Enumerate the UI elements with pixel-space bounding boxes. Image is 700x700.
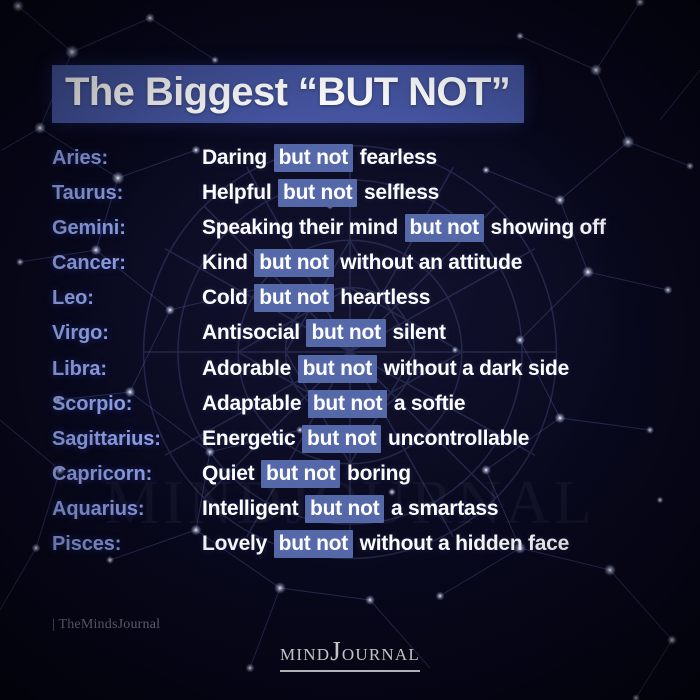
phrase-highlight: but not xyxy=(274,144,353,172)
zodiac-list: Aries:Daring but not fearlessTaurus:Help… xyxy=(52,146,692,567)
zodiac-row: Aries:Daring but not fearless xyxy=(52,146,692,181)
zodiac-sign-label: Scorpio: xyxy=(52,393,202,416)
phrase-after: a softie xyxy=(394,392,466,415)
phrase-before: Lovely xyxy=(202,532,267,555)
phrase-highlight: but not xyxy=(306,319,385,347)
zodiac-sign-label: Taurus: xyxy=(52,182,202,205)
zodiac-row: Capricorn:Quiet but not boring xyxy=(52,462,692,497)
phrase-after: without an attitude xyxy=(340,251,522,274)
phrase-highlight: but not xyxy=(298,355,377,383)
zodiac-phrase: Intelligent but not a smartass xyxy=(202,497,498,521)
zodiac-phrase: Helpful but not selfless xyxy=(202,181,439,205)
phrase-after: heartless xyxy=(340,286,430,309)
phrase-before: Intelligent xyxy=(202,497,298,520)
zodiac-sign-label: Aquarius: xyxy=(52,498,202,521)
phrase-highlight: but not xyxy=(308,390,387,418)
zodiac-phrase: Speaking their mind but not showing off xyxy=(202,216,606,240)
phrase-after: without a dark side xyxy=(384,357,569,380)
phrase-after: selfless xyxy=(364,181,439,204)
zodiac-phrase: Kind but not without an attitude xyxy=(202,251,522,275)
zodiac-row: Virgo:Antisocial but not silent xyxy=(52,321,692,356)
zodiac-row: Leo:Cold but not heartless xyxy=(52,286,692,321)
phrase-before: Speaking their mind xyxy=(202,216,398,239)
zodiac-phrase: Energetic but not uncontrollable xyxy=(202,427,529,451)
brand-logo: MINDJOURNAL xyxy=(0,641,700,672)
zodiac-sign-label: Capricorn: xyxy=(52,463,202,486)
phrase-highlight: but not xyxy=(274,530,353,558)
phrase-before: Helpful xyxy=(202,181,271,204)
phrase-after: uncontrollable xyxy=(388,427,529,450)
phrase-highlight: but not xyxy=(254,249,333,277)
zodiac-sign-label: Aries: xyxy=(52,147,202,170)
zodiac-row: Pisces:Lovely but not without a hidden f… xyxy=(52,532,692,567)
zodiac-phrase: Lovely but not without a hidden face xyxy=(202,532,569,556)
phrase-highlight: but not xyxy=(305,495,384,523)
footer-credit: | TheMindsJournal xyxy=(52,617,160,633)
brand-logo-j: J xyxy=(330,636,342,666)
phrase-before: Quiet xyxy=(202,462,254,485)
phrase-after: fearless xyxy=(360,146,437,169)
zodiac-row: Sagittarius:Energetic but not uncontroll… xyxy=(52,427,692,462)
phrase-before: Daring xyxy=(202,146,267,169)
brand-logo-mind: MIND xyxy=(280,645,330,664)
zodiac-phrase: Adaptable but not a softie xyxy=(202,392,465,416)
brand-logo-text: MINDJOURNAL xyxy=(280,641,420,672)
phrase-after: without a hidden face xyxy=(360,532,569,555)
zodiac-phrase: Quiet but not boring xyxy=(202,462,411,486)
phrase-before: Cold xyxy=(202,286,248,309)
phrase-after: boring xyxy=(347,462,411,485)
zodiac-sign-label: Cancer: xyxy=(52,252,202,275)
poster-content: The Biggest “BUT NOT” Aries:Daring but n… xyxy=(0,0,700,700)
phrase-highlight: but not xyxy=(278,179,357,207)
phrase-before: Antisocial xyxy=(202,321,300,344)
zodiac-row: Scorpio:Adaptable but not a softie xyxy=(52,392,692,427)
page-title: The Biggest “BUT NOT” xyxy=(65,71,510,114)
phrase-before: Energetic xyxy=(202,427,295,450)
zodiac-row: Taurus:Helpful but not selfless xyxy=(52,181,692,216)
zodiac-phrase: Antisocial but not silent xyxy=(202,321,446,345)
zodiac-row: Libra:Adorable but not without a dark si… xyxy=(52,357,692,392)
phrase-after: a smartass xyxy=(391,497,498,520)
phrase-before: Kind xyxy=(202,251,248,274)
zodiac-phrase: Cold but not heartless xyxy=(202,286,430,310)
zodiac-phrase: Daring but not fearless xyxy=(202,146,437,170)
phrase-after: showing off xyxy=(491,216,606,239)
zodiac-row: Gemini:Speaking their mind but not showi… xyxy=(52,216,692,251)
zodiac-row: Cancer:Kind but not without an attitude xyxy=(52,251,692,286)
phrase-before: Adorable xyxy=(202,357,291,380)
phrase-highlight: but not xyxy=(254,284,333,312)
phrase-before: Adaptable xyxy=(202,392,301,415)
zodiac-row: Aquarius:Intelligent but not a smartass xyxy=(52,497,692,532)
zodiac-sign-label: Sagittarius: xyxy=(52,428,202,451)
zodiac-sign-label: Pisces: xyxy=(52,533,202,556)
zodiac-sign-label: Gemini: xyxy=(52,217,202,240)
phrase-highlight: but not xyxy=(261,460,340,488)
zodiac-sign-label: Virgo: xyxy=(52,322,202,345)
phrase-highlight: but not xyxy=(302,425,381,453)
phrase-after: silent xyxy=(392,321,445,344)
title-banner: The Biggest “BUT NOT” xyxy=(52,65,524,123)
zodiac-phrase: Adorable but not without a dark side xyxy=(202,357,569,381)
zodiac-sign-label: Libra: xyxy=(52,358,202,381)
brand-logo-ournal: OURNAL xyxy=(342,645,420,664)
phrase-highlight: but not xyxy=(405,214,484,242)
zodiac-sign-label: Leo: xyxy=(52,287,202,310)
